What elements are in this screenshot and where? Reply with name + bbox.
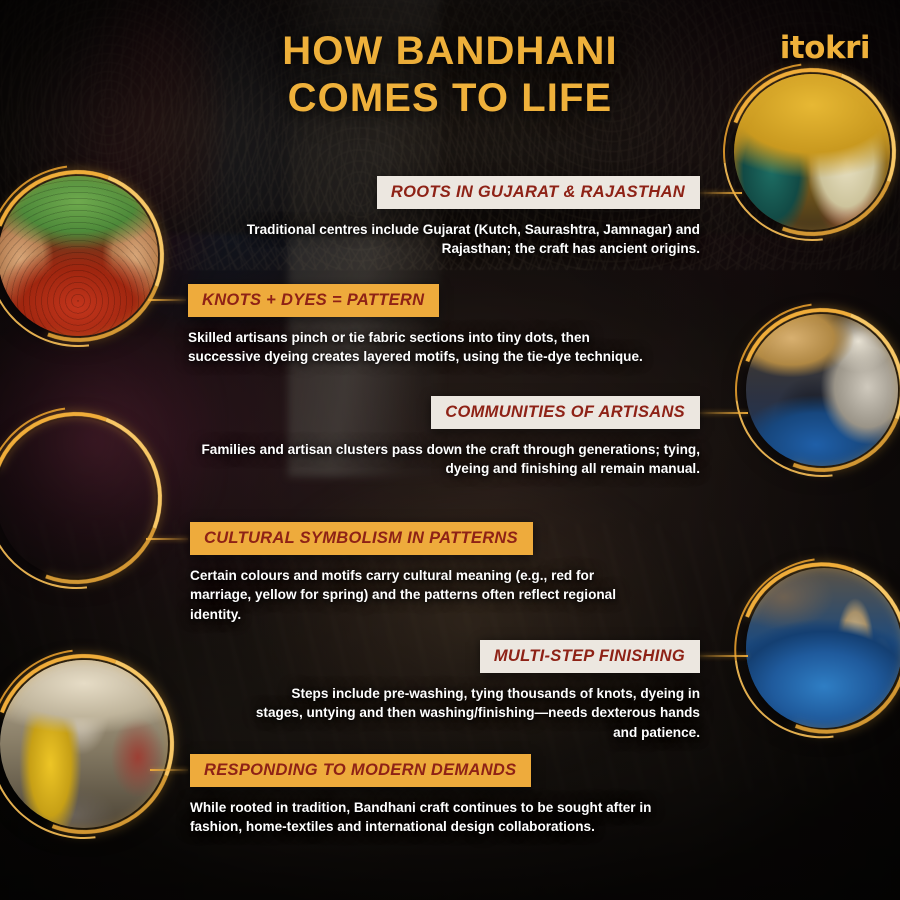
section-roots-body: Traditional centres include Gujarat (Kut… xyxy=(230,220,700,259)
section-modern: RESPONDING TO MODERN DEMANDS While roote… xyxy=(190,754,660,837)
connector-line-knots xyxy=(148,299,186,301)
connector-line-communities xyxy=(700,412,748,414)
page-title-line-1: HOW BANDHANI xyxy=(282,29,617,73)
photo-image xyxy=(0,418,156,578)
section-communities-body: Families and artisan clusters pass down … xyxy=(200,440,700,479)
connector-line-finishing xyxy=(696,655,748,657)
photo-fabric-bundles-in-blue-dye xyxy=(740,562,900,734)
section-communities: COMMUNITIES OF ARTISANS Families and art… xyxy=(200,396,700,479)
photo-image xyxy=(734,74,890,230)
section-modern-body: While rooted in tradition, Bandhani craf… xyxy=(190,798,660,837)
photo-image xyxy=(0,660,168,828)
section-knots-heading: KNOTS + DYES = PATTERN xyxy=(188,284,439,317)
connector-line-modern xyxy=(150,769,188,771)
section-symbolism: CULTURAL SYMBOLISM IN PATTERNS Certain c… xyxy=(190,522,650,624)
connector-line-symbolism xyxy=(146,538,188,540)
connector-line-roots xyxy=(700,192,742,194)
photo-dyer-lifting-yellow-fabric xyxy=(0,654,174,834)
photo-image xyxy=(746,314,898,466)
section-roots-heading: ROOTS IN GUJARAT & RAJASTHAN xyxy=(377,176,700,209)
section-knots: KNOTS + DYES = PATTERN Skilled artisans … xyxy=(188,284,648,367)
photo-scene-hands-red xyxy=(0,176,158,336)
photo-hands-tying-red-fabric xyxy=(0,170,164,342)
photo-image xyxy=(0,176,158,336)
section-symbolism-heading: CULTURAL SYMBOLISM IN PATTERNS xyxy=(190,522,533,555)
section-symbolism-body: Certain colours and motifs carry cultura… xyxy=(190,566,650,624)
section-finishing-heading: MULTI-STEP FINISHING xyxy=(480,640,700,673)
section-knots-body: Skilled artisans pinch or tie fabric sec… xyxy=(188,328,648,367)
photo-scene-dyer-yellow xyxy=(0,660,168,828)
section-communities-heading: COMMUNITIES OF ARTISANS xyxy=(431,396,700,429)
photo-scene-women-yellow xyxy=(734,74,890,230)
photo-scene-dyer-blue xyxy=(746,314,898,466)
itokri-logo[interactable]: itokri xyxy=(780,30,870,66)
section-roots: ROOTS IN GUJARAT & RAJASTHAN Traditional… xyxy=(230,176,700,259)
photo-women-tying-cream-fabric xyxy=(0,412,162,584)
photo-scene-women-cream xyxy=(0,418,156,578)
section-finishing: MULTI-STEP FINISHING Steps include pre-w… xyxy=(250,640,700,742)
section-finishing-body: Steps include pre-washing, tying thousan… xyxy=(250,684,700,742)
photo-dyer-black-gloves-blue-vat xyxy=(740,308,900,472)
infographic-poster: HOW BANDHANI COMES TO LIFE itokri xyxy=(0,0,900,900)
photo-image xyxy=(746,568,900,728)
section-modern-heading: RESPONDING TO MODERN DEMANDS xyxy=(190,754,531,787)
photo-scene-vat-blue xyxy=(746,568,900,728)
photo-women-tying-yellow-wall xyxy=(728,68,896,236)
